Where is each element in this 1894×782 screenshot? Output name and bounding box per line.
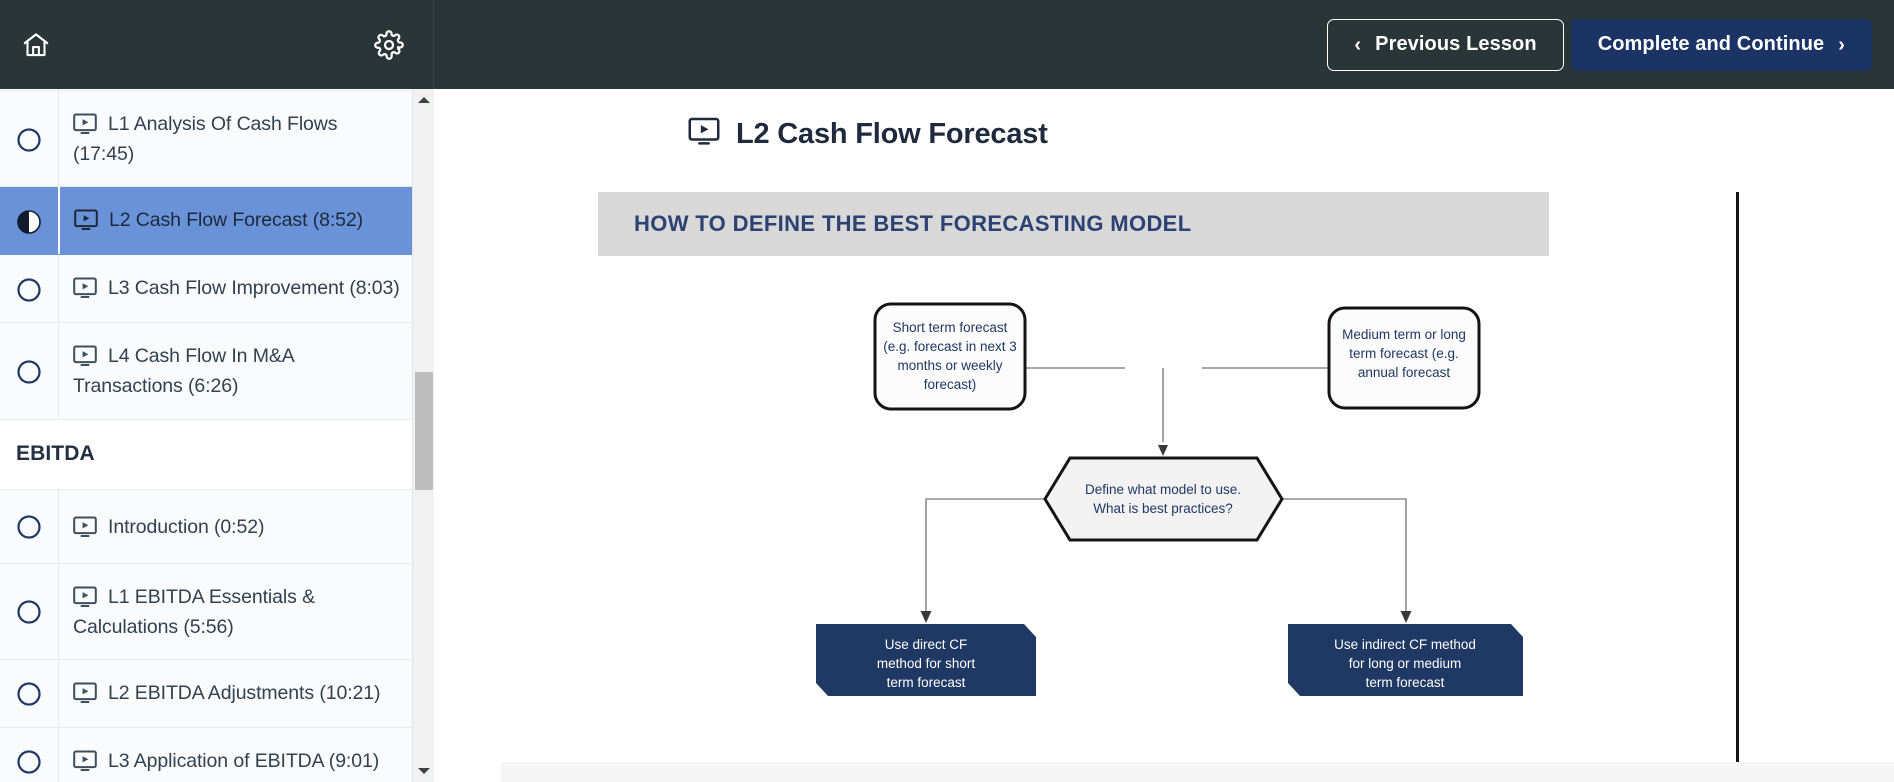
complete-and-continue-label: Complete and Continue bbox=[1598, 33, 1825, 56]
chevron-left-icon: ‹ bbox=[1354, 35, 1361, 55]
video-icon bbox=[74, 209, 98, 236]
video-icon bbox=[73, 516, 97, 543]
svg-text:term forecast: term forecast bbox=[887, 675, 966, 690]
circle-outline-icon bbox=[16, 127, 42, 153]
sidebar-item-l1-analysis-of-cash-flows[interactable]: L1 Analysis Of Cash Flows (17:45) bbox=[0, 91, 415, 187]
sidebar-item-label: L2 EBITDA Adjustments (10:21) bbox=[108, 682, 380, 704]
scroll-down-button[interactable] bbox=[413, 762, 435, 780]
video-icon bbox=[688, 117, 720, 151]
video-icon bbox=[73, 277, 97, 304]
lesson-status bbox=[0, 255, 58, 322]
sidebar-item-l2-cash-flow-forecast[interactable]: L2 Cash Flow Forecast (8:52) bbox=[0, 187, 415, 255]
sidebar-item-label: L2 Cash Flow Forecast (8:52) bbox=[109, 209, 363, 231]
node-short-term-forecast: Short term forecast (e.g. forecast in ne… bbox=[875, 304, 1025, 409]
svg-text:for long or medium: for long or medium bbox=[1349, 656, 1462, 671]
node-use-indirect-cf-method: Use indirect CF method for long or mediu… bbox=[1288, 624, 1523, 696]
lesson-status bbox=[0, 490, 58, 563]
half-circle-in-progress-icon bbox=[16, 209, 42, 235]
video-icon bbox=[73, 586, 97, 613]
svg-text:term forecast: term forecast bbox=[1366, 675, 1445, 690]
node-use-direct-cf-method: Use direct CF method for short term fore… bbox=[816, 624, 1036, 696]
lesson-body: L2 Cash Flow Forecast (8:52) bbox=[58, 187, 415, 254]
scrollbar-thumb[interactable] bbox=[415, 372, 433, 490]
topbar-left-group bbox=[0, 0, 434, 89]
circle-outline-icon bbox=[16, 277, 42, 303]
svg-text:(e.g. forecast in next 3: (e.g. forecast in next 3 bbox=[883, 339, 1017, 354]
node-medium-long-term-forecast: Medium term or long term forecast (e.g. … bbox=[1329, 308, 1479, 408]
lesson-status bbox=[0, 187, 58, 254]
bottom-strip bbox=[501, 762, 1894, 782]
video-icon bbox=[73, 682, 97, 709]
triangle-up-icon bbox=[418, 97, 430, 103]
lesson-body: L3 Cash Flow Improvement (8:03) bbox=[58, 255, 415, 322]
sidebar-item-label: Introduction (0:52) bbox=[108, 516, 264, 538]
sidebar-item-l2-ebitda-adjustments[interactable]: L2 EBITDA Adjustments (10:21) bbox=[0, 660, 415, 728]
svg-text:Define what model to use.: Define what model to use. bbox=[1085, 482, 1241, 497]
slide-header-text: HOW TO DEFINE THE BEST FORECASTING MODEL bbox=[634, 211, 1192, 237]
sidebar-item-label: L3 Application of EBITDA (9:01) bbox=[108, 750, 379, 772]
chevron-right-icon: › bbox=[1838, 35, 1845, 55]
sidebar-item-l1-ebitda-essentials-calculations[interactable]: L1 EBITDA Essentials & Calculations (5:5… bbox=[0, 564, 415, 660]
page-title-text: L2 Cash Flow Forecast bbox=[736, 118, 1048, 151]
lesson-status bbox=[0, 89, 58, 90]
sidebar-item-l3-cash-flow-improvement[interactable]: L3 Cash Flow Improvement (8:03) bbox=[0, 255, 415, 323]
main-content: L2 Cash Flow Forecast HOW TO DEFINE THE … bbox=[435, 89, 1894, 782]
previous-lesson-label: Previous Lesson bbox=[1375, 33, 1537, 56]
lesson-status bbox=[0, 323, 58, 418]
node-decision-define-model: Define what model to use. What is best p… bbox=[1045, 458, 1282, 540]
complete-and-continue-button[interactable]: Complete and Continue › bbox=[1571, 19, 1872, 71]
gear-icon[interactable] bbox=[367, 23, 411, 67]
top-bar: ‹ Previous Lesson Complete and Continue … bbox=[0, 0, 1894, 89]
sidebar-section-label: EBITDA bbox=[16, 442, 95, 466]
lesson-sidebar: L1 Analysis Of Cash Flows (17:45) L2 C bbox=[0, 89, 434, 782]
lesson-body: L1 EBITDA Essentials & Calculations (5:5… bbox=[58, 564, 415, 659]
previous-lesson-button[interactable]: ‹ Previous Lesson bbox=[1327, 19, 1563, 71]
sidebar-scroll-content: L1 Analysis Of Cash Flows (17:45) L2 C bbox=[0, 89, 415, 782]
slide-header: HOW TO DEFINE THE BEST FORECASTING MODEL bbox=[598, 192, 1549, 256]
page-title: L2 Cash Flow Forecast bbox=[435, 89, 1894, 151]
svg-text:What is best practices?: What is best practices? bbox=[1093, 501, 1233, 516]
topbar-nav-group: ‹ Previous Lesson Complete and Continue … bbox=[1327, 19, 1894, 71]
svg-text:Use direct CF: Use direct CF bbox=[885, 637, 968, 652]
svg-text:Short term forecast: Short term forecast bbox=[893, 320, 1008, 335]
svg-text:annual forecast: annual forecast bbox=[1358, 365, 1451, 380]
sidebar-scrollbar[interactable] bbox=[412, 89, 434, 782]
circle-outline-icon bbox=[16, 599, 42, 625]
video-icon bbox=[73, 750, 97, 777]
svg-text:Medium term or long: Medium term or long bbox=[1342, 327, 1466, 342]
lesson-body: L1 Analysis Of Cash Flows (17:45) bbox=[58, 91, 415, 186]
lesson-status bbox=[0, 564, 58, 659]
lesson-status bbox=[0, 91, 58, 186]
sidebar-item-label: L1 Analysis Of Cash Flows (17:45) bbox=[73, 113, 337, 165]
lesson-status bbox=[0, 728, 58, 782]
svg-text:method for short: method for short bbox=[877, 656, 976, 671]
video-icon bbox=[73, 113, 97, 140]
svg-text:forecast): forecast) bbox=[924, 377, 977, 392]
svg-text:months or weekly: months or weekly bbox=[897, 358, 1002, 373]
home-icon[interactable] bbox=[14, 23, 58, 67]
lesson-body: L2 EBITDA Adjustments (10:21) bbox=[58, 660, 415, 727]
flowchart-diagram: Short term forecast (e.g. forecast in ne… bbox=[598, 256, 1549, 782]
circle-outline-icon bbox=[16, 514, 42, 540]
sidebar-item-label: L1 EBITDA Essentials & Calculations (5:5… bbox=[73, 586, 315, 638]
video-player[interactable]: HOW TO DEFINE THE BEST FORECASTING MODEL bbox=[598, 192, 1739, 782]
svg-text:Use indirect CF method: Use indirect CF method bbox=[1334, 637, 1476, 652]
lesson-status bbox=[0, 660, 58, 727]
lesson-body: L3 Application of EBITDA (9:01) bbox=[58, 728, 415, 782]
bottom-strip-left bbox=[435, 762, 501, 782]
scroll-up-button[interactable] bbox=[413, 91, 435, 109]
sidebar-section-ebitda: EBITDA bbox=[0, 420, 415, 490]
sidebar-item-l3-application-of-ebitda[interactable]: L3 Application of EBITDA (9:01) bbox=[0, 728, 415, 782]
triangle-down-icon bbox=[418, 768, 430, 774]
sidebar-item-label: L3 Cash Flow Improvement (8:03) bbox=[108, 277, 400, 299]
sidebar-item-introduction[interactable]: Introduction (0:52) bbox=[0, 490, 415, 564]
circle-outline-icon bbox=[16, 89, 42, 90]
lesson-body: L4 Cash Flow In M&A Transactions (6:26) bbox=[58, 323, 415, 418]
svg-text:term forecast (e.g.: term forecast (e.g. bbox=[1349, 346, 1459, 361]
lesson-body: Introduction (0:52) bbox=[58, 490, 415, 563]
video-icon bbox=[73, 345, 97, 372]
circle-outline-icon bbox=[16, 359, 42, 385]
circle-outline-icon bbox=[16, 749, 42, 775]
sidebar-item-label: L4 Cash Flow In M&A Transactions (6:26) bbox=[73, 345, 294, 397]
circle-outline-icon bbox=[16, 681, 42, 707]
sidebar-item-l4-cash-flow-in-ma-transactions[interactable]: L4 Cash Flow In M&A Transactions (6:26) bbox=[0, 323, 415, 419]
lesson-body bbox=[58, 89, 415, 90]
